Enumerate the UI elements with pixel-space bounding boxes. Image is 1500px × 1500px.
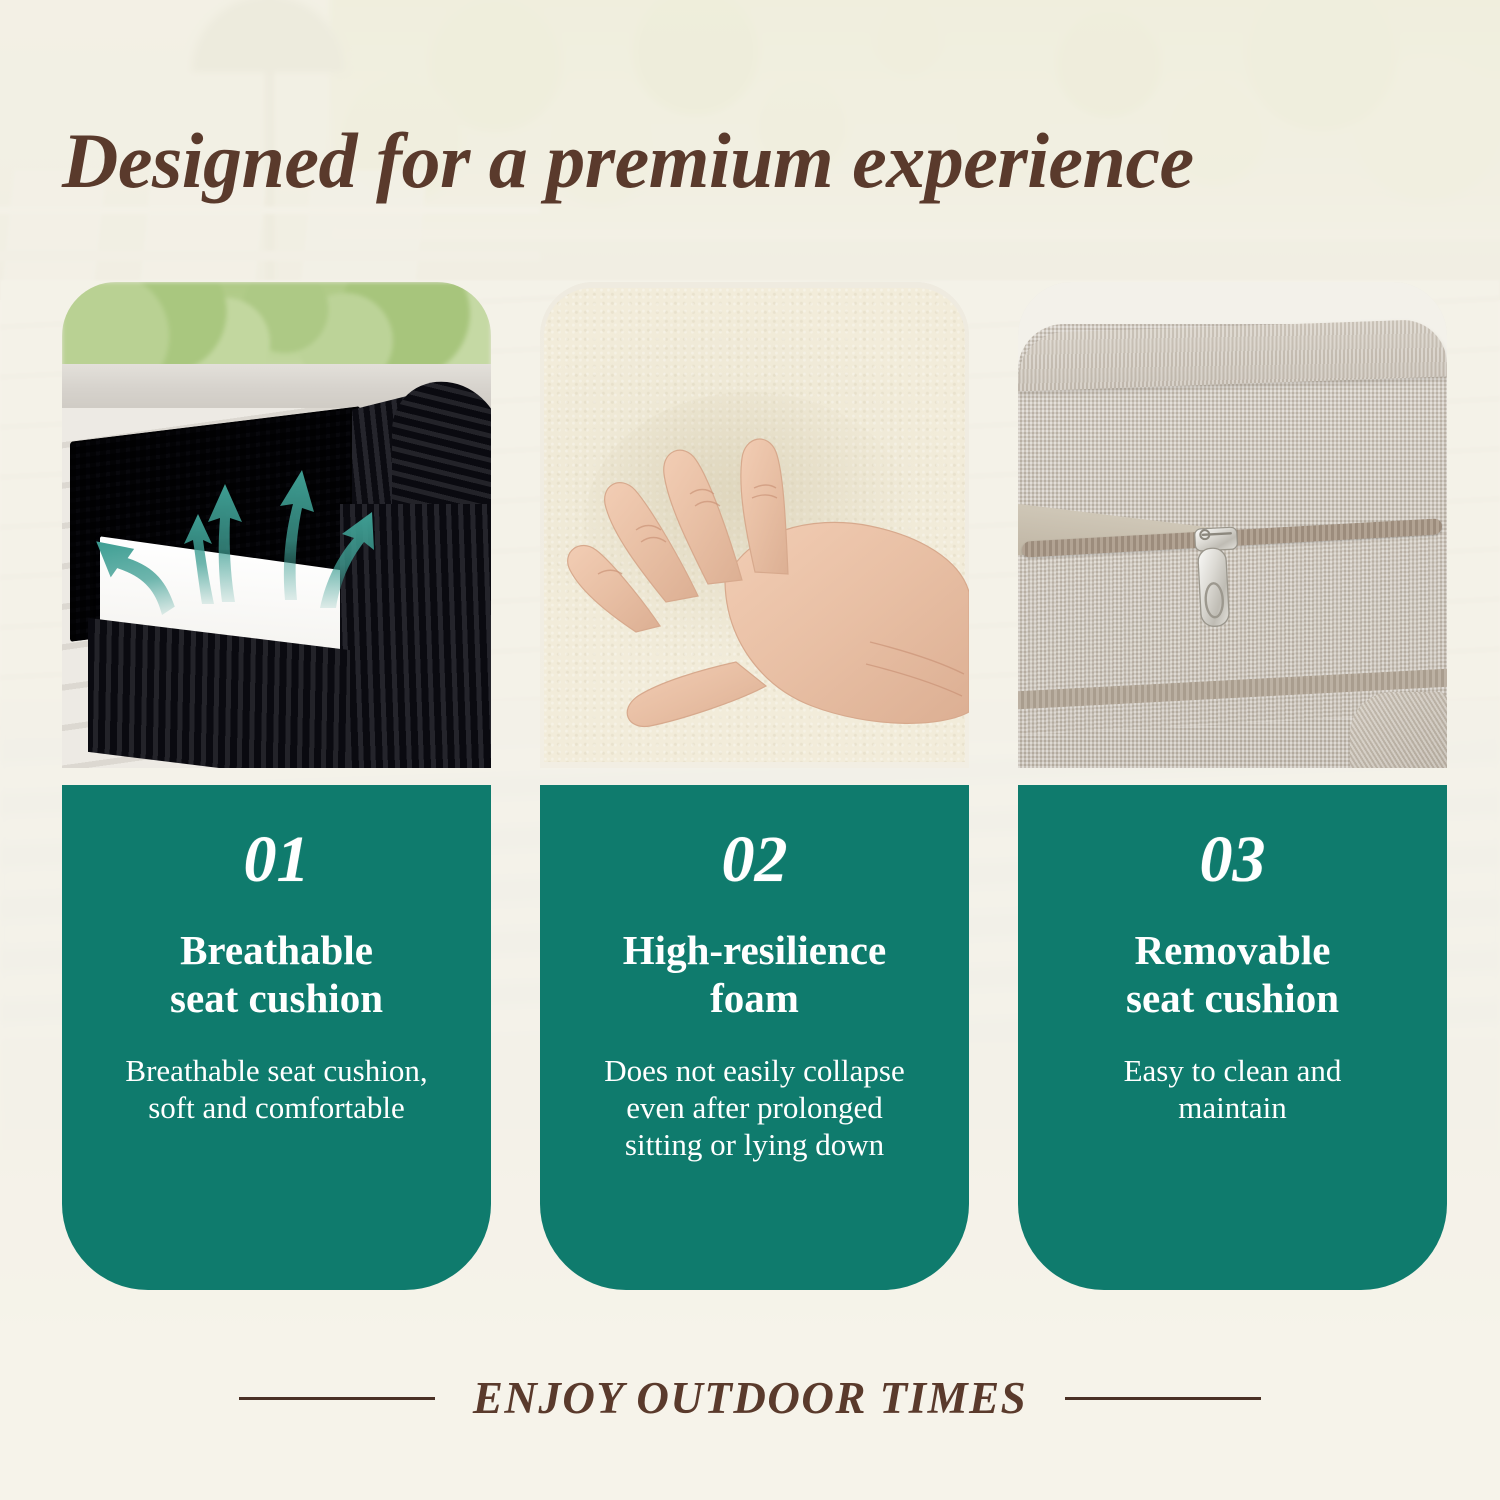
airflow-arrows-icon [62,282,491,768]
feature-title-03-line2: seat cushion [1126,975,1339,1023]
footer-rule-right [1065,1397,1261,1400]
feature-card-03: 03 Removable seat cushion Easy to clean … [1018,282,1447,1290]
feature-photo-removable-cushion [1018,282,1447,768]
feature-title-01: Breathable seat cushion [170,927,383,1022]
feature-number-02: 02 [722,827,788,893]
hand-pressing-icon [540,282,969,768]
feature-description-02: Does not easily collapse even after prol… [604,1052,904,1164]
feature-number-01: 01 [244,827,310,893]
feature-description-03: Easy to clean and maintain [1124,1052,1342,1126]
feature-title-02-line1: High-resilience [623,927,886,975]
feature-description-01-line2: soft and comfortable [125,1089,427,1126]
footer-rule-left [239,1397,435,1400]
feature-title-01-line1: Breathable [170,927,383,975]
zipper-pull-icon [1018,282,1447,768]
feature-description-02-line1: Does not easily collapse [604,1052,904,1089]
infographic-page: Designed for a premium experience [0,0,1500,1500]
feature-card-01: 01 Breathable seat cushion Breathable se… [62,282,491,1290]
feature-description-01: Breathable seat cushion, soft and comfor… [125,1052,427,1126]
feature-panel-03: 03 Removable seat cushion Easy to clean … [1018,785,1447,1290]
feature-title-02: High-resilience foam [623,927,886,1022]
feature-number-03: 03 [1200,827,1266,893]
footer-tagline: ENJOY OUTDOOR TIMES [473,1376,1027,1421]
feature-title-03: Removable seat cushion [1126,927,1339,1022]
footer: ENJOY OUTDOOR TIMES [0,1358,1500,1438]
page-title: Designed for a premium experience [62,122,1447,200]
feature-title-01-line2: seat cushion [170,975,383,1023]
feature-description-03-line1: Easy to clean and [1124,1052,1342,1089]
feature-description-01-line1: Breathable seat cushion, [125,1052,427,1089]
feature-photo-resilience-foam [540,282,969,768]
feature-description-03-line2: maintain [1124,1089,1342,1126]
feature-photo-breathable-cushion [62,282,491,768]
feature-description-02-line3: sitting or lying down [604,1126,904,1163]
feature-description-02-line2: even after prolonged [604,1089,904,1126]
feature-title-02-line2: foam [623,975,886,1023]
feature-panel-02: 02 High-resilience foam Does not easily … [540,785,969,1290]
feature-card-02: 02 High-resilience foam Does not easily … [540,282,969,1290]
feature-title-03-line1: Removable [1126,927,1339,975]
feature-panel-01: 01 Breathable seat cushion Breathable se… [62,785,491,1290]
feature-card-list: 01 Breathable seat cushion Breathable se… [62,282,1448,1290]
